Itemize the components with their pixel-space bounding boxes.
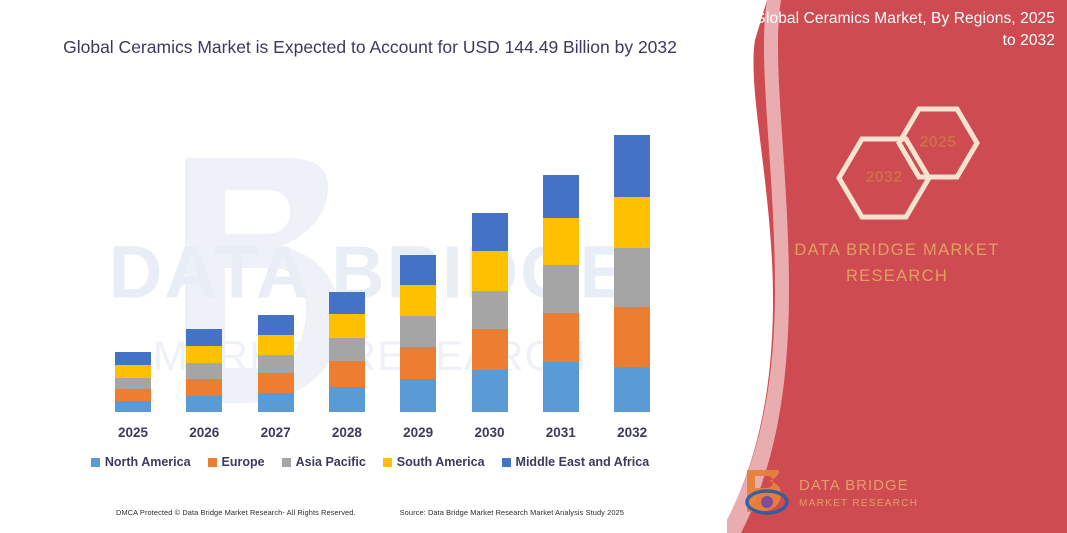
bar-2031[interactable] — [543, 175, 579, 412]
bar-segment-south-america — [472, 251, 508, 291]
bar-2026[interactable] — [186, 329, 222, 412]
x-axis-label-2029: 2029 — [378, 425, 458, 440]
hexagon-2025-label: 2025 — [920, 134, 957, 152]
chart-legend: North AmericaEuropeAsia PacificSouth Ame… — [0, 455, 740, 469]
x-axis-label-2032: 2032 — [592, 425, 672, 440]
bar-segment-asia-pacific — [614, 248, 650, 307]
legend-swatch-icon — [282, 458, 291, 467]
legend-label: Asia Pacific — [296, 455, 366, 469]
bar-segment-middle-east-and-africa — [329, 292, 365, 314]
x-axis-label-2031: 2031 — [521, 425, 601, 440]
bar-segment-europe — [472, 329, 508, 370]
bar-segment-middle-east-and-africa — [400, 255, 436, 285]
bar-segment-north-america — [329, 387, 365, 412]
bar-segment-middle-east-and-africa — [258, 315, 294, 335]
legend-item-north-america[interactable]: North America — [91, 455, 191, 469]
bar-segment-south-america — [614, 197, 650, 248]
right-info-panel: Global Ceramics Market, By Regions, 2025… — [727, 0, 1067, 533]
chart-panel: Global Ceramics Market is Expected to Ac… — [0, 0, 760, 533]
bar-segment-asia-pacific — [543, 265, 579, 313]
x-axis-label-2026: 2026 — [164, 425, 244, 440]
bar-segment-middle-east-and-africa — [614, 135, 650, 197]
bar-segment-europe — [186, 379, 222, 396]
legend-swatch-icon — [502, 458, 511, 467]
legend-label: North America — [105, 455, 191, 469]
bar-segment-europe — [400, 347, 436, 379]
legend-swatch-icon — [91, 458, 100, 467]
bar-segment-europe — [258, 373, 294, 393]
bar-segment-north-america — [400, 379, 436, 412]
bar-2025[interactable] — [115, 352, 151, 412]
stacked-bar-plot: 20252026202720282029203020312032 — [0, 0, 760, 470]
legend-label: Middle East and Africa — [516, 455, 650, 469]
bar-segment-asia-pacific — [329, 338, 365, 361]
bar-segment-south-america — [115, 365, 151, 378]
bar-segment-asia-pacific — [186, 363, 222, 379]
bar-2027[interactable] — [258, 315, 294, 412]
bar-segment-asia-pacific — [400, 316, 436, 347]
bar-segment-north-america — [472, 370, 508, 412]
svg-text:DATA BRIDGE: DATA BRIDGE — [799, 477, 909, 494]
bar-2028[interactable] — [329, 292, 365, 412]
bar-segment-south-america — [186, 346, 222, 363]
bar-segment-south-america — [258, 335, 294, 355]
bar-segment-south-america — [400, 285, 436, 316]
hexagon-2025: 2025 — [895, 105, 981, 181]
legend-swatch-icon — [208, 458, 217, 467]
bar-segment-europe — [614, 307, 650, 367]
bar-segment-north-america — [115, 401, 151, 412]
legend-item-asia-pacific[interactable]: Asia Pacific — [282, 455, 366, 469]
bar-segment-asia-pacific — [115, 378, 151, 389]
bar-segment-middle-east-and-africa — [472, 213, 508, 251]
bar-segment-europe — [329, 361, 365, 387]
x-axis-label-2028: 2028 — [307, 425, 387, 440]
bar-segment-north-america — [186, 396, 222, 412]
legend-item-middle-east-and-africa[interactable]: Middle East and Africa — [502, 455, 650, 469]
svg-text:MARKET RESEARCH: MARKET RESEARCH — [799, 498, 918, 509]
bar-2032[interactable] — [614, 135, 650, 412]
bar-segment-middle-east-and-africa — [186, 329, 222, 346]
bar-segment-north-america — [614, 367, 650, 412]
bar-segment-middle-east-and-africa — [115, 352, 151, 365]
legend-item-europe[interactable]: Europe — [208, 455, 265, 469]
legend-label: Europe — [222, 455, 265, 469]
bar-segment-europe — [115, 389, 151, 401]
footer-source: Source: Data Bridge Market Research Mark… — [400, 508, 624, 517]
bar-segment-south-america — [543, 218, 579, 265]
footer-copyright: DMCA Protected © Data Bridge Market Rese… — [116, 508, 356, 517]
panel-title: Global Ceramics Market, By Regions, 2025… — [739, 8, 1055, 53]
bar-segment-north-america — [543, 362, 579, 412]
legend-item-south-america[interactable]: South America — [383, 455, 485, 469]
x-axis-label-2025: 2025 — [93, 425, 173, 440]
bar-segment-north-america — [258, 393, 294, 412]
x-axis-label-2030: 2030 — [450, 425, 530, 440]
bar-2030[interactable] — [472, 213, 508, 412]
bar-segment-europe — [543, 313, 579, 362]
bar-segment-asia-pacific — [472, 291, 508, 329]
data-bridge-logo: DATA BRIDGE MARKET RESEARCH — [737, 466, 947, 516]
chart-footer: DMCA Protected © Data Bridge Market Rese… — [0, 508, 740, 517]
bar-segment-middle-east-and-africa — [543, 175, 579, 218]
bar-segment-asia-pacific — [258, 355, 294, 373]
x-axis-label-2027: 2027 — [236, 425, 316, 440]
bar-segment-south-america — [329, 314, 365, 338]
legend-label: South America — [397, 455, 485, 469]
bar-2029[interactable] — [400, 255, 436, 412]
legend-swatch-icon — [383, 458, 392, 467]
brand-name: DATA BRIDGE MARKET RESEARCH — [757, 238, 1037, 289]
